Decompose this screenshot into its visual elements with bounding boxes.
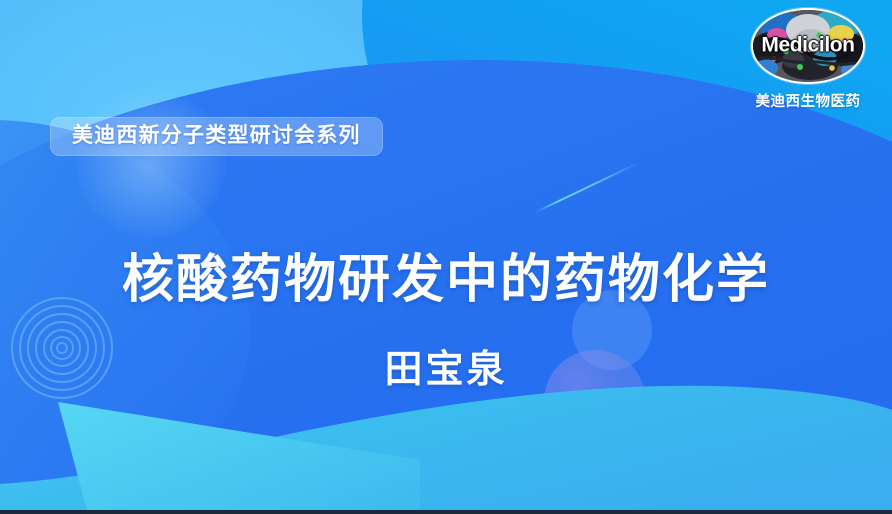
series-badge: 美迪西新分子类型研讨会系列 <box>50 117 383 156</box>
page-title: 核酸药物研发中的药物化学 <box>0 251 892 309</box>
speaker-name: 田宝泉 <box>0 338 892 393</box>
slide-content: Medicilon 美迪西生物医药 美迪西新分子类型研讨会系列 核酸药物研发中的… <box>0 0 892 514</box>
medicilon-oval-logo-icon: Medicilon <box>751 8 865 84</box>
webinar-title-slide: Medicilon 美迪西生物医药 美迪西新分子类型研讨会系列 核酸药物研发中的… <box>0 0 892 514</box>
logo-subtitle-cn: 美迪西生物医药 <box>740 90 876 111</box>
brand-logo-block: Medicilon 美迪西生物医药 <box>740 8 876 111</box>
logo-wordmark: Medicilon <box>753 34 863 58</box>
